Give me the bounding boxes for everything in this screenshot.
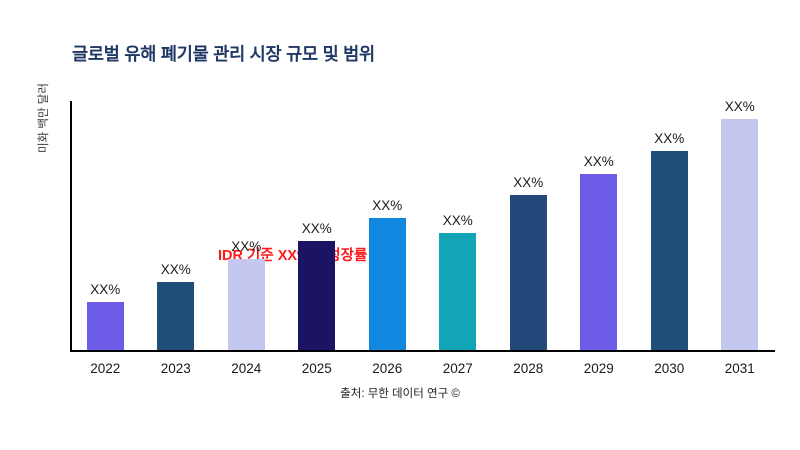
bar-2025[interactable]: [298, 241, 335, 350]
bar-2028[interactable]: [510, 195, 547, 350]
bar-2031[interactable]: [721, 119, 758, 350]
x-axis-tick-2023: 2023: [161, 361, 191, 376]
x-axis-tick-2024: 2024: [231, 361, 261, 376]
bar-group-2030[interactable]: XX%2030: [651, 101, 688, 350]
x-axis-line: [70, 350, 775, 352]
bar-group-2027[interactable]: XX%2027: [439, 101, 476, 350]
x-axis-tick-2026: 2026: [372, 361, 402, 376]
bar-group-2026[interactable]: XX%2026: [369, 101, 406, 350]
bar-group-2028[interactable]: XX%2028: [510, 101, 547, 350]
bar-2027[interactable]: [439, 233, 476, 350]
bar-value-label-2029: XX%: [584, 154, 614, 169]
bar-2030[interactable]: [651, 151, 688, 350]
bar-value-label-2028: XX%: [513, 175, 543, 190]
y-axis-label: 미화 백만 달러: [35, 38, 51, 198]
x-axis-tick-2022: 2022: [90, 361, 120, 376]
x-axis-tick-2028: 2028: [513, 361, 543, 376]
x-axis-tick-2029: 2029: [584, 361, 614, 376]
bar-value-label-2030: XX%: [654, 131, 684, 146]
bar-value-label-2025: XX%: [302, 221, 332, 236]
bar-value-label-2027: XX%: [443, 213, 473, 228]
x-axis-tick-2025: 2025: [302, 361, 332, 376]
chart-title: 글로벌 유해 폐기물 관리 시장 규모 및 범위: [72, 41, 375, 66]
bar-group-2025[interactable]: XX%2025: [298, 101, 335, 350]
x-axis-tick-2027: 2027: [443, 361, 473, 376]
bar-group-2022[interactable]: XX%2022: [87, 101, 124, 350]
bar-2022[interactable]: [87, 302, 124, 350]
bar-2029[interactable]: [580, 174, 617, 350]
bar-value-label-2024: XX%: [231, 239, 261, 254]
bar-value-label-2023: XX%: [161, 262, 191, 277]
bar-2024[interactable]: [228, 259, 265, 350]
source-note: 출처: 무한 데이터 연구 ©: [0, 385, 800, 401]
bar-2023[interactable]: [157, 282, 194, 350]
bar-value-label-2022: XX%: [90, 282, 120, 297]
bar-group-2029[interactable]: XX%2029: [580, 101, 617, 350]
bar-group-2023[interactable]: XX%2023: [157, 101, 194, 350]
bar-group-2024[interactable]: XX%2024: [228, 101, 265, 350]
bar-group-2031[interactable]: XX%2031: [721, 101, 758, 350]
bar-value-label-2031: XX%: [725, 99, 755, 114]
bar-2026[interactable]: [369, 218, 406, 350]
plot-area: IDR 기준 XX%의 성장률 XX%2022XX%2023XX%2024XX%…: [70, 101, 780, 350]
x-axis-tick-2031: 2031: [725, 361, 755, 376]
bar-value-label-2026: XX%: [372, 198, 402, 213]
chart-container: 글로벌 유해 폐기물 관리 시장 규모 및 범위 미화 백만 달러 IDR 기준…: [0, 0, 800, 450]
x-axis-tick-2030: 2030: [654, 361, 684, 376]
y-axis-line: [70, 101, 72, 350]
